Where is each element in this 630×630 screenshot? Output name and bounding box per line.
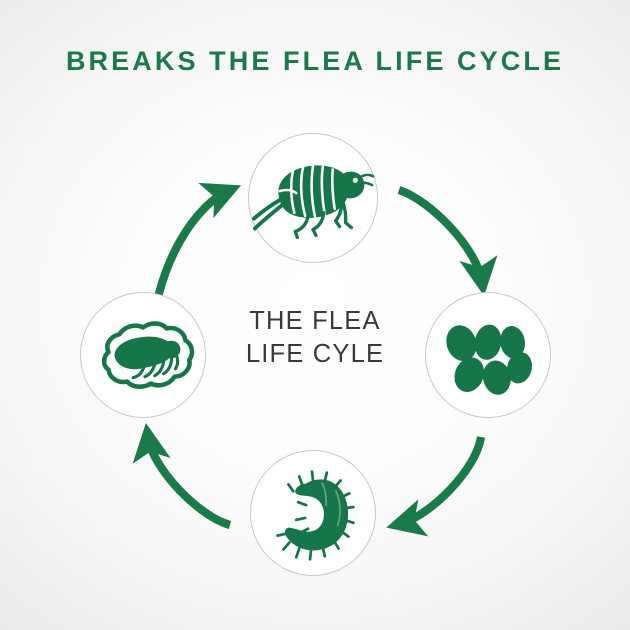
flea-adult-icon — [249, 134, 377, 262]
stage-circle-adult[interactable] — [248, 133, 378, 263]
stage-circle-larva[interactable] — [250, 450, 376, 576]
center-caption: THE FLEA LIFE CYLE — [215, 305, 415, 371]
stage-circle-pupa[interactable] — [80, 292, 206, 418]
flea-eggs-icon — [426, 293, 550, 417]
arrow-adult-to-eggs — [399, 190, 482, 282]
stage-circle-eggs[interactable] — [425, 292, 551, 418]
flea-larva-icon — [251, 451, 375, 575]
center-caption-line-1: THE FLEA — [215, 305, 415, 338]
arrow-larva-to-pupa — [148, 437, 230, 525]
page-title: BREAKS THE FLEA LIFE CYCLE — [0, 46, 630, 77]
arrow-eggs-to-larva — [400, 437, 481, 524]
flea-pupa-icon — [81, 293, 205, 417]
center-caption-line-2: LIFE CYLE — [215, 338, 415, 371]
flea-life-cycle-infographic: BREAKS THE FLEA LIFE CYCLE — [0, 0, 630, 630]
